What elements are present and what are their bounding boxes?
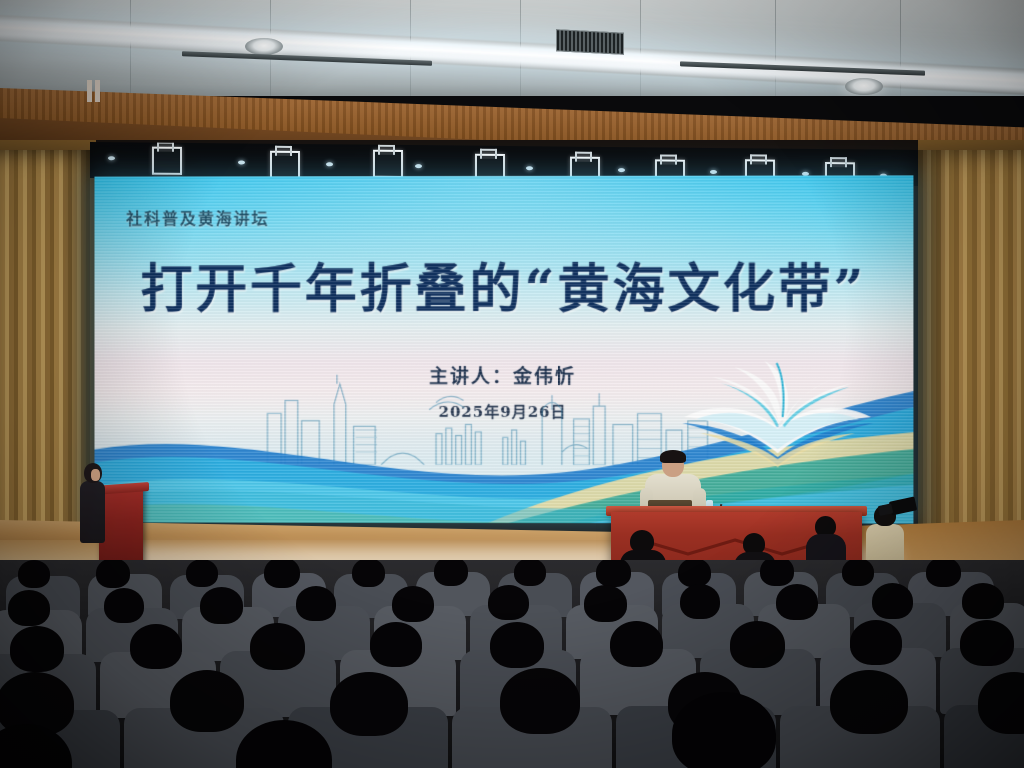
slide-kicker: 社科普及黄海讲坛 (126, 205, 269, 229)
lecture-hall-photo: 社科普及黄海讲坛 打开千年折叠的“黄海文化带” 主讲人：金伟忻 2025年9月2… (0, 0, 1024, 768)
spotlight-icon (526, 166, 533, 170)
audience-head (186, 560, 218, 587)
audience-head (850, 620, 902, 665)
ceiling (0, 0, 1024, 96)
audience-head (10, 626, 64, 672)
downlight-icon (845, 78, 883, 95)
slide-title: 打开千年折叠的“黄海文化带” (94, 264, 913, 316)
audience-head (610, 621, 663, 667)
audience-head (514, 560, 546, 586)
audience-head (680, 584, 720, 619)
audience-head (18, 560, 50, 588)
audience-head (8, 590, 50, 626)
audience-head (776, 584, 818, 620)
audience-head (352, 560, 385, 587)
downlight-icon (245, 38, 283, 55)
audience-head (490, 622, 544, 668)
spotlight-icon (710, 170, 717, 174)
audience-head (488, 585, 529, 620)
audience-head (962, 583, 1004, 619)
audience-head (830, 670, 908, 734)
host-at-podium (79, 463, 107, 573)
audience-head (392, 586, 434, 622)
audience-head (926, 560, 961, 587)
stage-curtain-right (918, 150, 1024, 570)
led-presentation-screen: 社科普及黄海讲坛 打开千年折叠的“黄海文化带” 主讲人：金伟忻 2025年9月2… (94, 175, 913, 523)
stage-light-icon (373, 150, 403, 178)
audience-head (170, 670, 244, 732)
audience-head (596, 560, 631, 587)
spotlight-icon (238, 160, 245, 164)
open-book-graphic (672, 361, 883, 481)
audience-head (872, 583, 913, 619)
audience-head (104, 588, 144, 623)
audience-head (500, 668, 580, 734)
audience-head (960, 620, 1014, 666)
audience-head (434, 560, 468, 586)
spotlight-icon (618, 168, 625, 172)
audience-head (730, 621, 785, 668)
audience-head (130, 624, 182, 669)
audience-head (760, 560, 794, 586)
audience-head (296, 586, 336, 621)
air-vent-grille (556, 29, 624, 55)
spotlight-icon (415, 164, 422, 168)
audience-head (264, 560, 300, 588)
audience-head-foreground (672, 692, 776, 768)
stage-light-icon (152, 147, 182, 175)
spotlight-icon (326, 162, 333, 166)
audience-head (250, 623, 305, 670)
audience-head (842, 560, 874, 586)
audience-seating (0, 560, 1024, 768)
audience-head (330, 672, 408, 736)
spotlight-icon (108, 156, 115, 160)
audience-head (584, 585, 627, 622)
audience-head (370, 622, 422, 667)
audience-head (200, 587, 243, 624)
audience-head (678, 560, 711, 587)
stage-light-icon (270, 151, 300, 179)
audience-head (96, 560, 130, 588)
